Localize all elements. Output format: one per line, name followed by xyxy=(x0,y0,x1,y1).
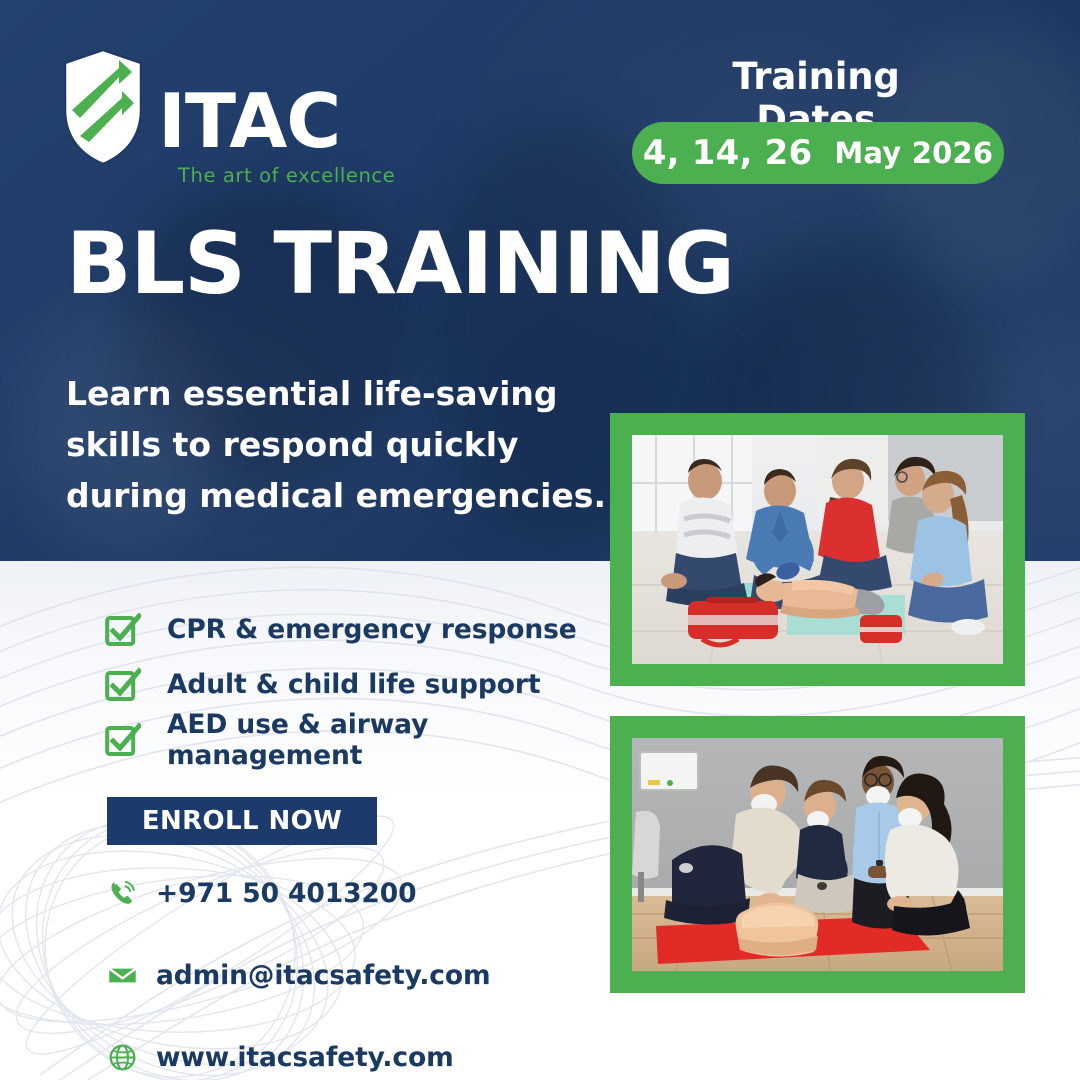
list-item-label: AED use & airway management xyxy=(167,709,625,771)
list-item: CPR & emergency response xyxy=(105,602,625,657)
cpr-masked-training-photo xyxy=(632,738,1003,971)
cpr-group-training-photo xyxy=(632,435,1003,664)
enroll-now-button[interactable]: ENROLL NOW xyxy=(107,797,377,845)
page-title: BLS TRAINING xyxy=(66,221,734,307)
list-item-label: CPR & emergency response xyxy=(167,614,577,645)
poster: ITAC The art of excellence Training Date… xyxy=(0,0,1080,1080)
enroll-now-label: ENROLL NOW xyxy=(142,806,342,836)
email-icon xyxy=(105,958,139,992)
training-dates-badge: 4, 14, 26 May 2026 xyxy=(632,122,1004,184)
checkbox-checked-icon xyxy=(105,612,141,648)
list-item: Adult & child life support xyxy=(105,657,625,712)
feature-list: CPR & emergency response Adult & child l… xyxy=(105,602,625,767)
list-item: AED use & airway management xyxy=(105,712,625,767)
contact-website[interactable]: www.itacsafety.com xyxy=(105,1037,625,1077)
logo-wordmark: ITAC xyxy=(158,84,340,159)
website-url: www.itacsafety.com xyxy=(156,1042,454,1073)
logo-tagline: The art of excellence xyxy=(178,164,395,187)
photo-frame-top xyxy=(610,413,1025,686)
list-item-label: Adult & child life support xyxy=(167,669,540,700)
globe-icon xyxy=(105,1040,139,1074)
email-address: admin@itacsafety.com xyxy=(156,960,491,991)
checkbox-checked-icon xyxy=(105,722,141,758)
training-dates-days: 4, 14, 26 xyxy=(643,133,813,173)
photo-frame-bottom xyxy=(610,716,1025,993)
training-dates-month: May 2026 xyxy=(834,136,993,170)
checkbox-checked-icon xyxy=(105,667,141,703)
phone-icon xyxy=(105,876,139,910)
brand-logo: ITAC The art of excellence xyxy=(62,48,402,173)
page-subtitle: Learn essential life-saving skills to re… xyxy=(66,368,626,521)
shield-arrows-logo-icon xyxy=(62,48,144,166)
contact-list: +971 50 4013200 admin@itacsafety.com xyxy=(105,873,625,1080)
contact-phone[interactable]: +971 50 4013200 xyxy=(105,873,625,913)
phone-number: +971 50 4013200 xyxy=(156,878,416,909)
contact-email[interactable]: admin@itacsafety.com xyxy=(105,955,625,995)
